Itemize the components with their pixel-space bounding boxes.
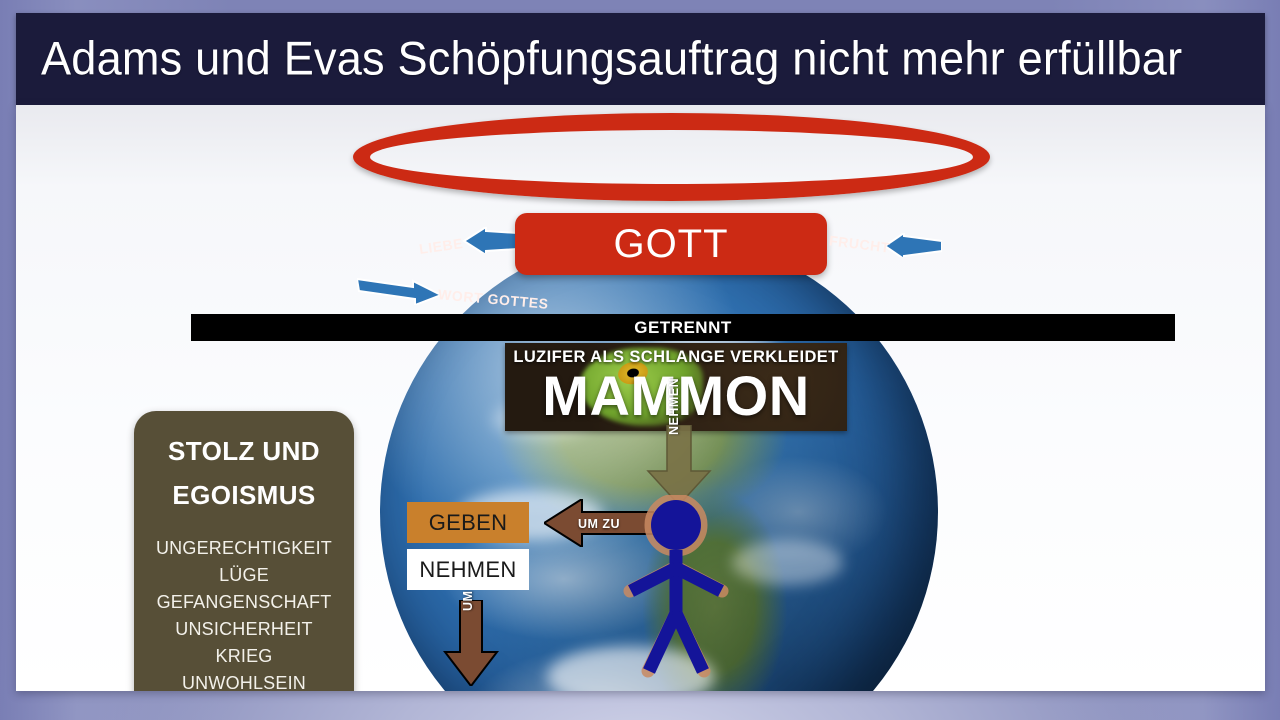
- list-item: GEFANGENSCHAFT: [134, 589, 354, 616]
- blue-arrow-wort-gottes: [357, 277, 441, 305]
- vices-list: UNGERECHTIGKEIT LÜGE GEFANGENSCHAFT UNSI…: [134, 535, 354, 691]
- list-item: KRIEG: [134, 643, 354, 670]
- slide-title-bar: Adams und Evas Schöpfungsauftrag nicht m…: [16, 13, 1265, 105]
- slide-canvas: GOTT LIEBE FRUCHT WORT GOTTES GETRENNT L…: [16, 105, 1265, 691]
- arrow-umzu-down: [443, 600, 499, 686]
- god-box: GOTT: [515, 213, 827, 275]
- vices-heading-line1: STOLZ UND: [134, 429, 354, 473]
- list-item: UNWOHLSEIN: [134, 670, 354, 691]
- arrow-label-nehmen: NEHMEN: [667, 378, 681, 435]
- nehmen-box-1: NEHMEN: [407, 549, 529, 590]
- geben-box-1: GEBEN: [407, 502, 529, 543]
- list-item: UNGERECHTIGKEIT: [134, 535, 354, 562]
- arrow-nehmen-down: [644, 425, 714, 505]
- god-label: GOTT: [613, 222, 728, 267]
- list-item: LÜGE: [134, 562, 354, 589]
- vices-panel: STOLZ UND EGOISMUS UNGERECHTIGKEIT LÜGE …: [134, 411, 354, 691]
- arrow-label-umzu-1: UM ZU: [578, 517, 620, 531]
- slide-stage: Adams und Evas Schöpfungsauftrag nicht m…: [0, 0, 1280, 720]
- vices-heading-line2: EGOISMUS: [134, 473, 354, 517]
- blue-arrow-frucht: [882, 233, 942, 257]
- separation-label: GETRENNT: [634, 318, 732, 338]
- person-figure-icon: [616, 495, 736, 680]
- god-cycle-ring: [353, 113, 990, 201]
- ring-label-liebe: LIEBE: [418, 235, 464, 257]
- list-item: UNSICHERHEIT: [134, 616, 354, 643]
- page-title: Adams und Evas Schöpfungsauftrag nicht m…: [41, 30, 1182, 85]
- separation-bar: GETRENNT: [191, 314, 1175, 341]
- ring-ellipse: [353, 113, 990, 201]
